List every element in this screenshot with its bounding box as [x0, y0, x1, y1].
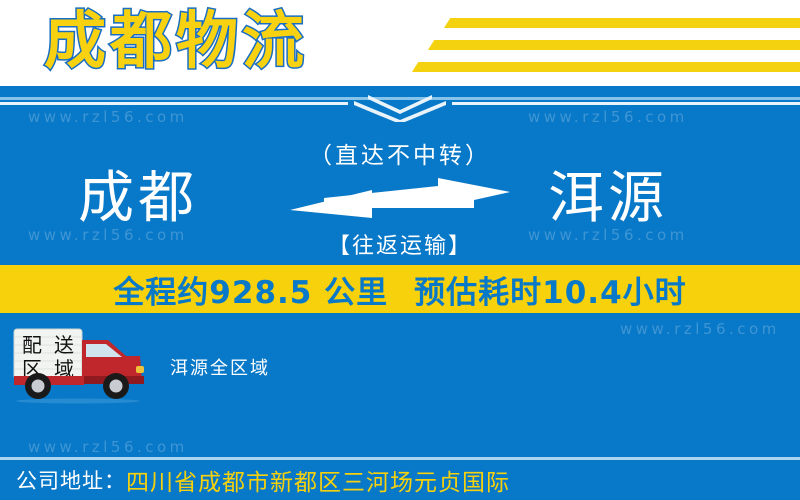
divider-rule-right [452, 102, 800, 105]
brand-title: 成都物流 [44, 6, 308, 76]
decorative-stripe-2 [428, 40, 800, 50]
watermark: www.rzl56.com [28, 438, 188, 456]
poster-header: 成都物流 [0, 0, 800, 86]
bidirectional-arrow-icon [288, 178, 512, 226]
duration-text: 预估耗时10.4小时 [414, 267, 687, 312]
route-row: （直达不中转） 成都 洱源 【往返运输】 [0, 146, 800, 256]
distance-text: 全程约928.5 公里 [113, 267, 388, 312]
delivery-area-label: 洱源全区域 [170, 354, 270, 380]
chevron-divider-row [0, 88, 800, 122]
address-value: 四川省成都市新都区三河场元贞国际 [126, 463, 510, 497]
logistics-route-poster: 成都物流 www.rzl56.com www.rzl56.com www.rzl… [0, 0, 800, 500]
decorative-stripe-1 [444, 18, 800, 28]
svg-text:送: 送 [54, 333, 74, 357]
roundtrip-note: 【往返运输】 [0, 228, 800, 260]
decorative-stripe-3 [412, 62, 800, 72]
svg-text:配: 配 [22, 333, 42, 357]
delivery-truck-icon: 配 送 区 域 [8, 326, 158, 404]
distance-duration-band: 全程约928.5 公里 预估耗时10.4小时 [0, 265, 800, 313]
divider-rule-left [0, 102, 348, 105]
main-blue-panel: www.rzl56.com www.rzl56.com www.rzl56.co… [0, 86, 800, 500]
company-address-bar: 公司地址： 四川省成都市新都区三河场元贞国际 [0, 460, 800, 500]
address-label: 公司地址： [16, 465, 126, 495]
double-chevron-down-icon [348, 88, 452, 122]
delivery-coverage-row: 配 送 区 域 洱源全区域 [0, 326, 800, 406]
